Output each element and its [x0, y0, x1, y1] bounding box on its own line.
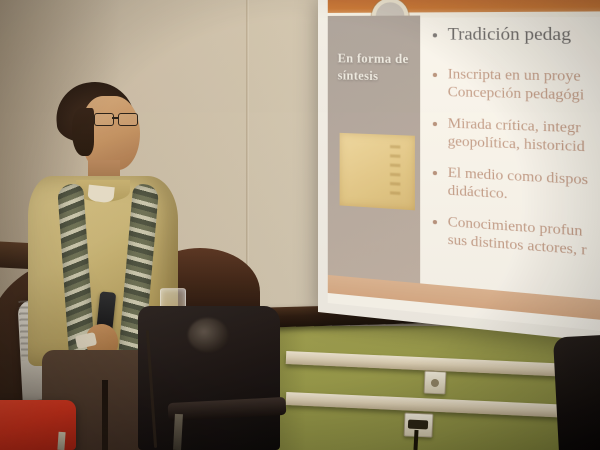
photograph-canvas: En forma de síntesis Tradición pedag Ins…	[0, 0, 600, 450]
eyeglass-lens-right	[118, 113, 138, 126]
projection-screen: En forma de síntesis Tradición pedag Ins…	[318, 0, 600, 345]
eyeglass-lens-left	[94, 113, 114, 126]
slide-sidebar: En forma de síntesis	[328, 16, 420, 284]
wall-outlet-lower[interactable]	[403, 412, 433, 437]
bullet-line-1: Inscripta en un proye	[448, 67, 581, 85]
presentation-slide: En forma de síntesis Tradición pedag Ins…	[328, 0, 600, 333]
slide-bullet-item: El medio como dispos didáctico.	[431, 163, 600, 210]
slide-bullet-item: Conocimiento profun sus distintos actore…	[431, 212, 600, 263]
slide-sidebar-title-line2: síntesis	[338, 68, 379, 83]
slide-sidebar-title-line1: En forma de	[338, 51, 409, 66]
red-stool-leg	[57, 432, 65, 450]
screen-surface: En forma de síntesis Tradición pedag Ins…	[318, 0, 600, 345]
eyeglasses-icon	[94, 113, 138, 124]
wall-outlet-upper[interactable]	[424, 371, 447, 395]
slide-bullet-list: Tradición pedag Inscripta en un proye Co…	[424, 17, 600, 263]
slide-sidebar-title: En forma de síntesis	[338, 50, 419, 86]
wall-corner-edge	[246, 0, 249, 300]
slide-body: Tradición pedag Inscripta en un proye Co…	[424, 17, 600, 302]
microphone-head-icon	[188, 318, 228, 352]
right-edge-chair	[553, 335, 600, 450]
presenter-leg-separation	[102, 380, 108, 450]
bullet-line-2: geopolítica, historicid	[448, 133, 600, 159]
slide-bullet-item: Mirada crítica, integr geopolítica, hist…	[431, 114, 600, 158]
slide-bullet-item: Tradición pedag	[431, 24, 600, 46]
presenter-sideburn	[72, 108, 94, 156]
slide-bullet-item: Inscripta en un proye Concepción pedagóg…	[431, 66, 600, 106]
bullet-line-1: Tradición pedag	[448, 24, 571, 45]
slide-sidebar-image-placeholder	[340, 133, 415, 211]
bullet-line-2: Concepción pedagógi	[448, 84, 600, 106]
